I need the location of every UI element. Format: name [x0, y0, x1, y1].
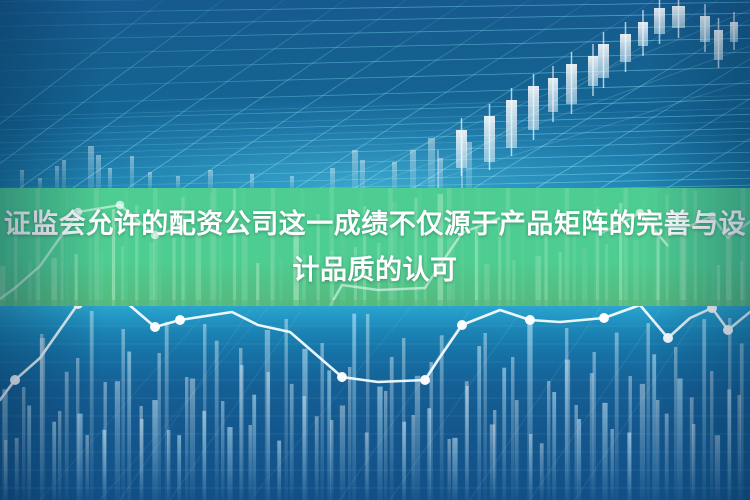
promo-banner-image: 证监会允许的配资公司这一成绩不仅源于产品矩阵的完善与设 计品质的认可 — [0, 0, 750, 500]
edge-vignette — [0, 0, 750, 500]
